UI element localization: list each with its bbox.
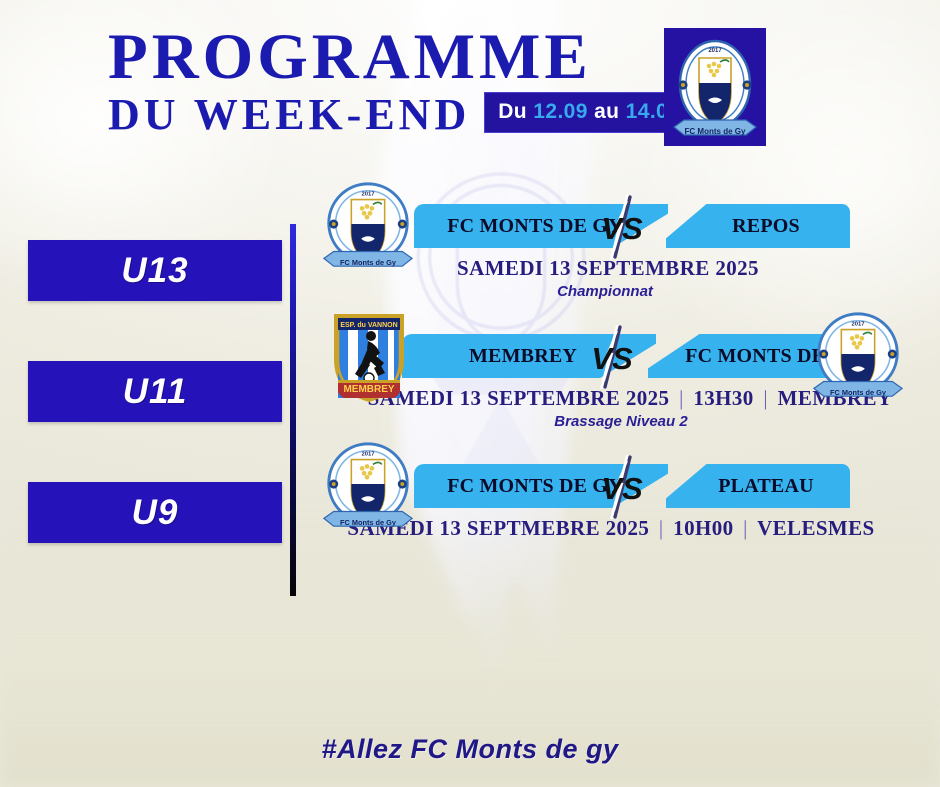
svg-text:VS: VS	[601, 211, 643, 246]
category-label: U13	[121, 251, 188, 291]
away-team-name: REPOS	[732, 215, 800, 238]
match-row: FC MONTS DE GY PLATEAU VS 2017	[318, 464, 918, 594]
membrey-banner-text: MEMBREY	[343, 384, 394, 395]
svg-text:FC Monts de Gy: FC Monts de Gy	[830, 388, 887, 397]
crest-banner-text: FC Monts de Gy	[685, 127, 746, 136]
subtitle-row: DU WEEK-END Du 12.09 au 14.09	[108, 92, 694, 138]
svg-text:2017: 2017	[361, 192, 375, 198]
title-block: PROGRAMME DU WEEK-END Du 12.09 au 14.09	[108, 26, 694, 138]
vs-icon: VS	[586, 455, 660, 519]
date-prefix: Du	[498, 100, 527, 123]
home-team-name: MEMBREY	[469, 345, 577, 368]
svg-text:FC Monts de Gy: FC Monts de Gy	[340, 518, 397, 527]
category-button-u13[interactable]: U13	[28, 240, 282, 301]
svg-text:VS: VS	[601, 471, 643, 506]
away-team-name: PLATEAU	[718, 475, 813, 498]
svg-text:FC Monts de Gy: FC Monts de Gy	[340, 258, 397, 267]
vs-icon: VS	[586, 195, 660, 259]
svg-text:2017: 2017	[708, 48, 722, 54]
category-button-u9[interactable]: U9	[28, 482, 282, 543]
match-time: 10H00	[673, 516, 733, 540]
vertical-divider	[290, 224, 296, 596]
category-button-u11[interactable]: U11	[28, 361, 282, 422]
home-team-logo: 2017 FC Monts de Gy	[318, 178, 418, 276]
fc-monts-de-gy-crest-icon: 2017 FC Monts de Gy	[664, 28, 766, 146]
category-label: U9	[132, 493, 179, 533]
match-competition: Championnat	[318, 283, 918, 300]
detail-separator: |	[759, 386, 772, 410]
home-team-logo: ESP. du VANNON MEMBREY	[318, 304, 420, 406]
away-team-logo: 2017 FC Monts de Gy	[808, 308, 908, 406]
match-banner: MEMBREY FC MONTS DE GY VS	[318, 334, 918, 378]
date-from: 12.09	[533, 100, 588, 123]
match-banner: FC MONTS DE GY REPOS VS 2017	[318, 204, 918, 248]
home-team-logo: 2017 FC Monts de Gy	[318, 438, 418, 536]
detail-separator: |	[739, 516, 752, 540]
svg-text:VS: VS	[591, 341, 633, 376]
date-middle: au	[594, 100, 619, 123]
detail-separator: |	[675, 386, 688, 410]
match-list: FC MONTS DE GY REPOS VS 2017	[318, 204, 918, 594]
header-club-crest: 2017 FC Monts de Gy	[664, 28, 766, 146]
category-list: U13 U11 U9	[28, 240, 282, 543]
match-competition: Brassage Niveau 2	[318, 413, 918, 430]
page-title-line1: PROGRAMME	[108, 26, 694, 88]
match-time: 13H30	[693, 386, 753, 410]
detail-separator: |	[655, 516, 668, 540]
footer: #Allez FC Monts de gy	[0, 734, 940, 765]
away-team-bar: REPOS	[666, 204, 850, 248]
match-banner: FC MONTS DE GY PLATEAU VS 2017	[318, 464, 918, 508]
match-date: SAMEDI 13 SEPTEMBRE 2025	[457, 256, 759, 280]
page-title-line2: DU WEEK-END	[108, 92, 470, 138]
category-label: U11	[123, 372, 188, 412]
match-venue: VELESMES	[757, 516, 875, 540]
membrey-top-text: ESP. du VANNON	[340, 322, 397, 329]
svg-text:2017: 2017	[361, 452, 375, 458]
date-range-badge: Du 12.09 au 14.09	[484, 92, 694, 133]
svg-text:2017: 2017	[851, 322, 865, 328]
header: PROGRAMME DU WEEK-END Du 12.09 au 14.09 …	[0, 0, 940, 170]
away-team-bar: PLATEAU	[666, 464, 850, 508]
vs-icon: VS	[576, 325, 650, 389]
footer-hashtag: #Allez FC Monts de gy	[321, 734, 618, 764]
